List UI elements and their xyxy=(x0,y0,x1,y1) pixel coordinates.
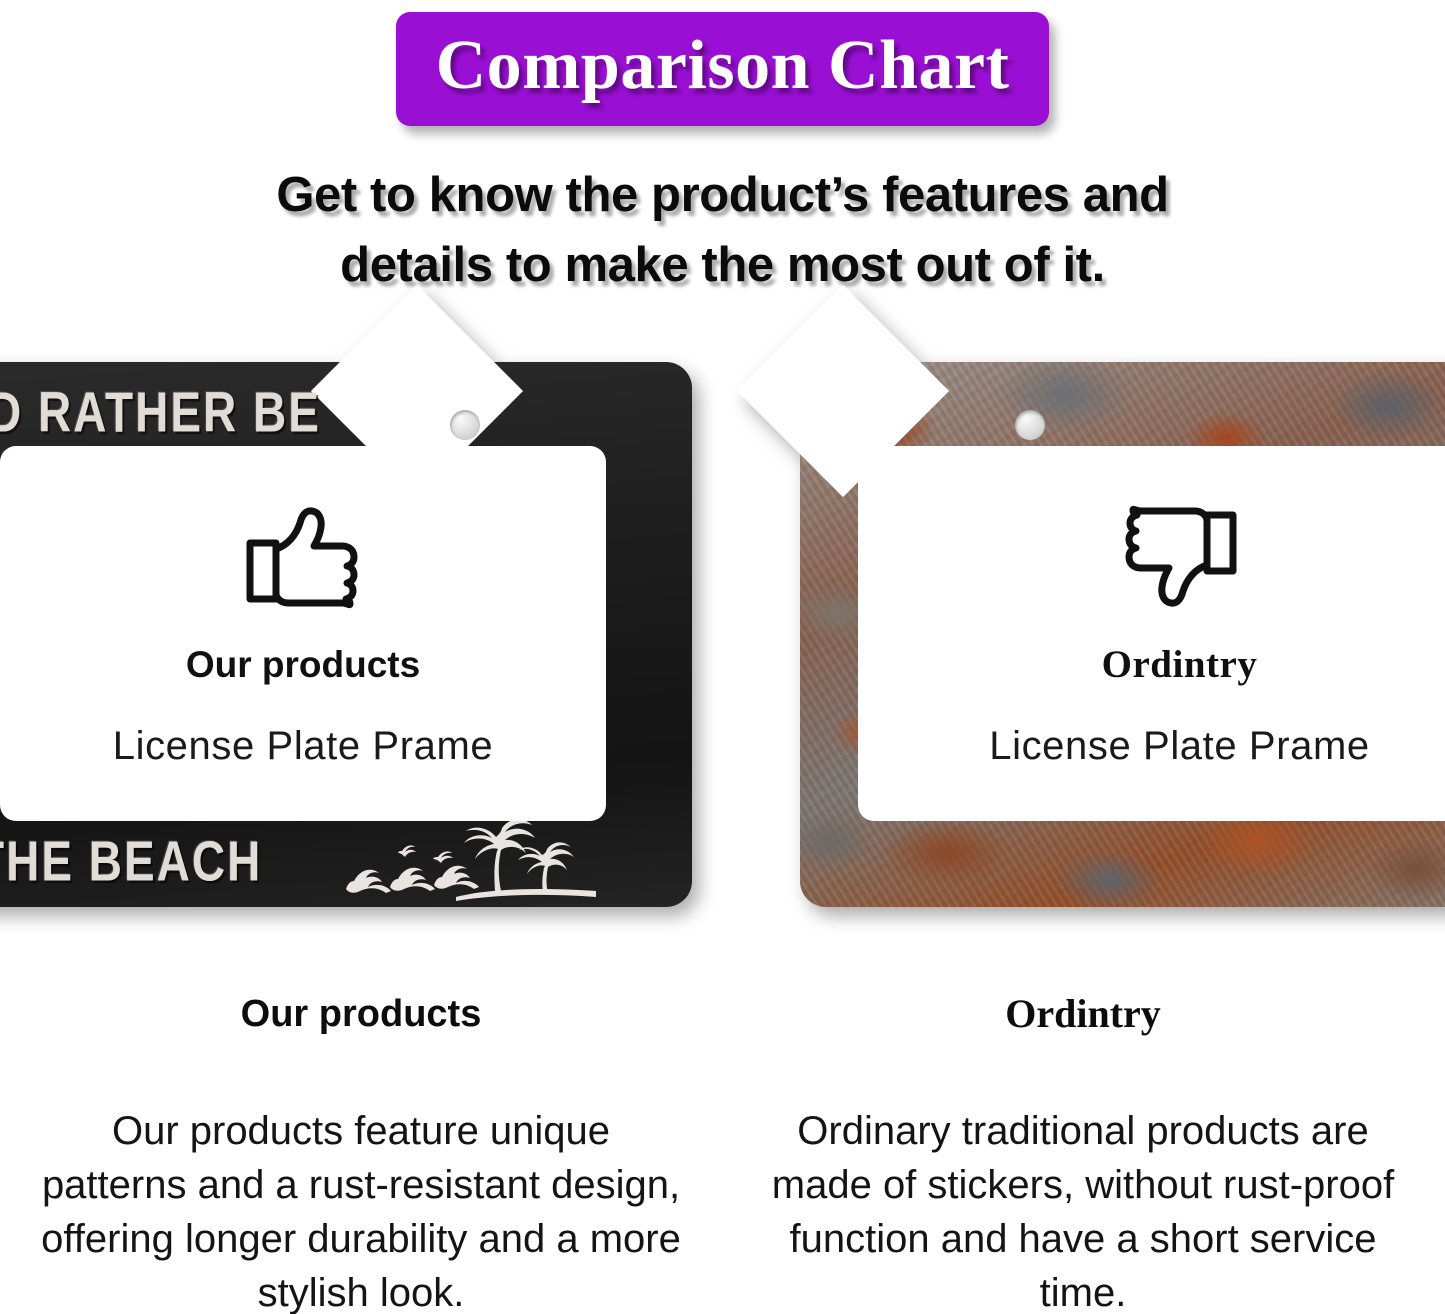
screw-hole-icon xyxy=(450,410,480,440)
right-product-label: License Plate Prame xyxy=(989,723,1369,769)
our-products-description-column: Our products Our products feature unique… xyxy=(0,990,722,1314)
thumbs-up-icon xyxy=(244,505,362,609)
right-brand-label: Ordintry xyxy=(1102,643,1258,687)
left-column-body: Our products feature unique patterns and… xyxy=(40,1104,682,1314)
frame-bottom-engraving: THE BEACH xyxy=(0,829,262,892)
left-window-content: Our products License Plate Prame xyxy=(0,446,606,821)
right-column-body: Ordinary traditional products are made o… xyxy=(762,1104,1404,1314)
thumbs-down-icon xyxy=(1121,505,1239,609)
header-banner: Comparison Chart xyxy=(396,12,1050,126)
license-plate-window-left: Our products License Plate Prame xyxy=(0,446,606,821)
left-column-heading: Our products xyxy=(40,990,682,1038)
left-brand-label: Our products xyxy=(186,643,420,687)
right-window-content: Ordintry License Plate Prame xyxy=(858,446,1445,821)
left-product-label: License Plate Prame xyxy=(113,723,493,769)
right-column-heading: Ordintry xyxy=(762,990,1404,1038)
palm-tree-waves-icon xyxy=(346,811,596,903)
license-plate-window-right: Ordintry License Plate Prame xyxy=(858,446,1445,821)
subtitle-line-1: Get to know the product’s features and xyxy=(0,160,1445,230)
header-banner-container: Comparison Chart xyxy=(0,12,1445,126)
page-title: Comparison Chart xyxy=(436,18,1010,114)
product-comparison-images: D RATHER BE THE BEACH xyxy=(0,362,1445,910)
our-product-frame-image: D RATHER BE THE BEACH xyxy=(0,362,692,907)
ordintry-description-column: Ordintry Ordinary traditional products a… xyxy=(722,990,1444,1314)
ordinary-product-frame-image: Ordintry License Plate Prame xyxy=(800,362,1445,907)
screw-hole-icon xyxy=(1015,410,1045,440)
page-subtitle: Get to know the product’s features and d… xyxy=(0,160,1445,300)
frame-top-engraving: D RATHER BE xyxy=(0,380,321,443)
subtitle-line-2: details to make the most out of it. xyxy=(0,230,1445,300)
comparison-chart-page: Comparison Chart Get to know the product… xyxy=(0,0,1445,1314)
description-columns: Our products Our products feature unique… xyxy=(0,990,1445,1314)
